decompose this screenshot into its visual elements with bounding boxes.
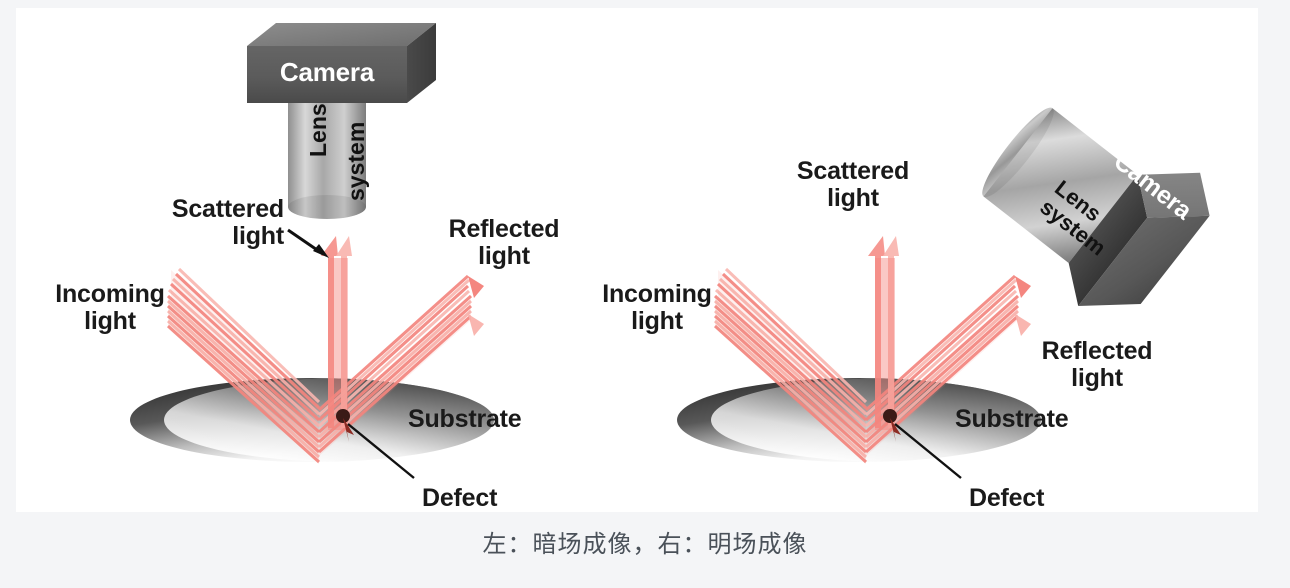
- lens-system-label: Lens system: [291, 113, 365, 205]
- incoming-light-label: Incoming light: [55, 281, 165, 335]
- substrate-label: Substrate: [955, 406, 1069, 433]
- reflected-light-label: Reflected light: [1042, 338, 1153, 392]
- incoming-light-label-line2: light: [602, 308, 712, 335]
- incoming-light-label-line1: Incoming: [602, 281, 712, 308]
- lens-label-line2: system: [343, 122, 370, 201]
- defect-label: Defect: [969, 485, 1044, 512]
- scattered-light-label: Scattered light: [172, 196, 284, 250]
- figure-caption: 左：暗场成像，右：明场成像: [0, 524, 1290, 559]
- panel-bright-field: Camera Lens system Scattered light Incom…: [637, 8, 1258, 512]
- lens-label-line1: Lens: [305, 103, 332, 157]
- scattered-light-label-line1: Scattered: [797, 158, 909, 185]
- scattered-light-pointer-arrow: [288, 230, 329, 258]
- reflected-light-label: Reflected light: [449, 216, 560, 270]
- figure-card: Camera Lens system Scattered light Refle…: [16, 8, 1258, 512]
- bright-field-illustration: [637, 8, 1258, 512]
- reflected-light-label-line1: Reflected: [1042, 338, 1153, 365]
- incoming-light-label-line2: light: [55, 308, 165, 335]
- scattered-light-label-line1: Scattered: [172, 196, 284, 223]
- reflected-light-label-line2: light: [1042, 365, 1153, 392]
- camera-label: Camera: [280, 58, 374, 86]
- figure-root: Camera Lens system Scattered light Refle…: [0, 0, 1290, 588]
- panel-dark-field: Camera Lens system Scattered light Refle…: [16, 8, 637, 512]
- incoming-light-label-line1: Incoming: [55, 281, 165, 308]
- scattered-light-label: Scattered light: [797, 158, 909, 212]
- scattered-light-label-line2: light: [797, 185, 909, 212]
- reflected-light-label-line1: Reflected: [449, 216, 560, 243]
- reflected-light-label-line2: light: [449, 243, 560, 270]
- substrate-label: Substrate: [408, 406, 522, 433]
- defect-label: Defect: [422, 485, 497, 512]
- incoming-light-label: Incoming light: [602, 281, 712, 335]
- scattered-light-label-line2: light: [172, 223, 284, 250]
